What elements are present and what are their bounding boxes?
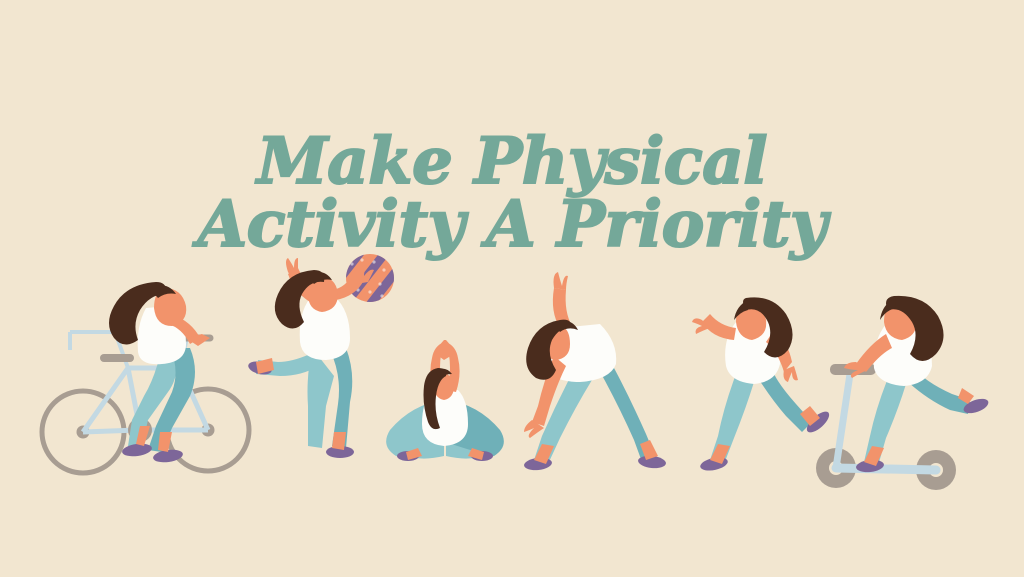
scooter-rider-body — [844, 296, 990, 474]
illustration-woman-scooter — [812, 278, 992, 494]
page-title: Make Physical Activity A Priority — [0, 131, 1024, 256]
poster-canvas: Make Physical Activity A Priority — [0, 0, 1024, 577]
page-title-line-2: Activity A Priority — [0, 194, 1024, 257]
illustration-woman-cycling — [40, 280, 255, 480]
illustration-woman-yoga — [382, 338, 508, 472]
stretching-body — [523, 272, 666, 471]
page-title-line-1: Make Physical — [0, 131, 1024, 194]
illustration-woman-stretching — [514, 270, 674, 478]
yoga-body — [386, 340, 504, 461]
ball-player-body — [247, 258, 374, 458]
